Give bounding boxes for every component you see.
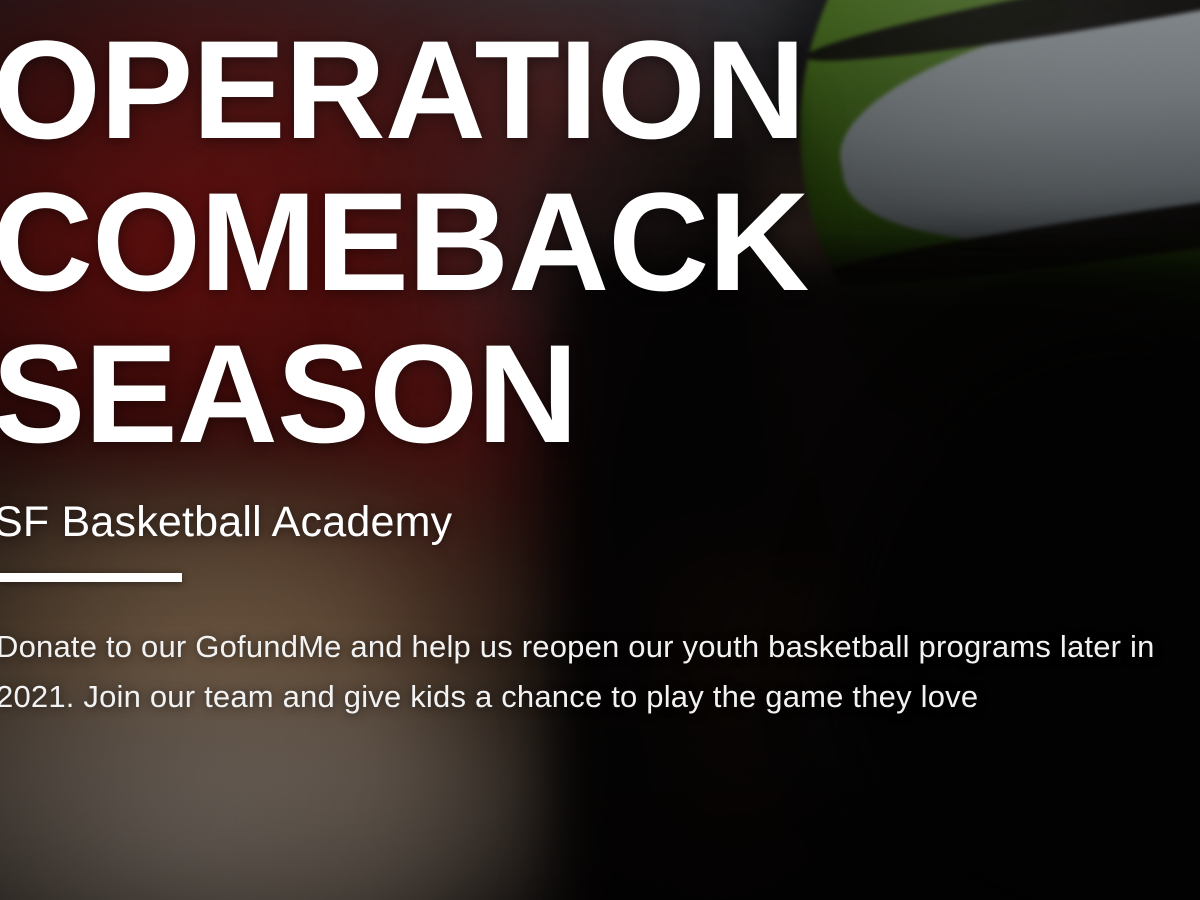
headline-line-1: OPERATION	[0, 14, 808, 166]
promo-poster: OPERATIONCOMEBACKSEASON SF Basketball Ac…	[0, 0, 1200, 900]
headline-line-3: SEASON	[0, 318, 808, 470]
page-title: OPERATIONCOMEBACKSEASON	[0, 14, 808, 470]
poster-content: OPERATIONCOMEBACKSEASON SF Basketball Ac…	[0, 0, 1200, 900]
headline-line-2: COMEBACK	[0, 166, 808, 318]
divider-rule	[0, 573, 182, 582]
organization-subtitle: SF Basketball Academy	[0, 496, 452, 548]
description-text: Donate to our GofundMe and help us reope…	[0, 622, 1181, 722]
